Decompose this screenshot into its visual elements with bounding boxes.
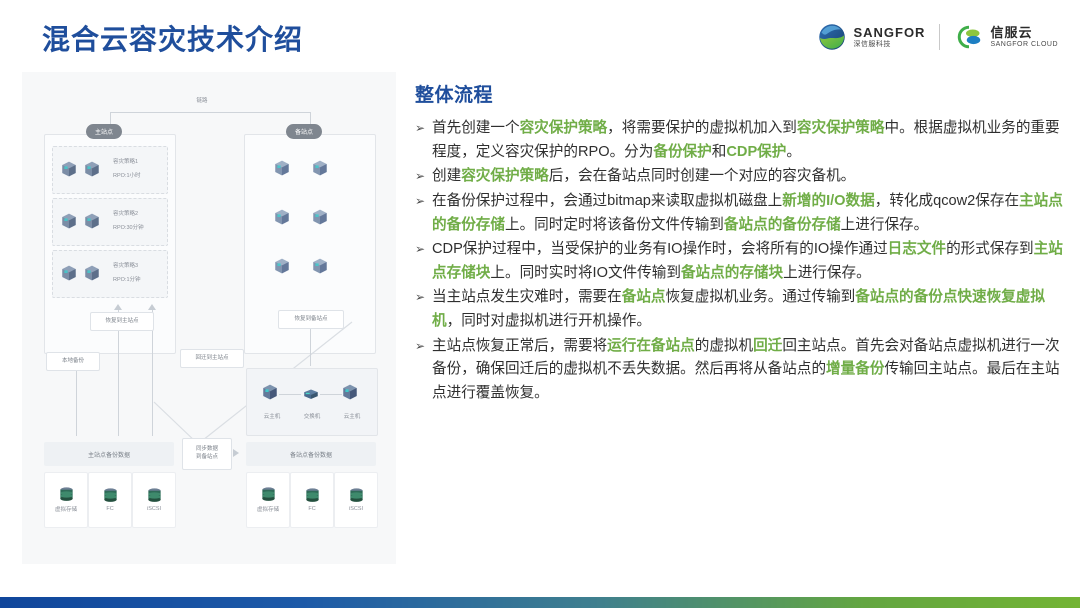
primary-storage-label-0: 虚拟存储 (55, 505, 77, 513)
bullet-marker-icon: ➢ (415, 190, 432, 213)
body-text-run: 主站点恢复正常后，需要将 (432, 338, 607, 354)
bullet-item: ➢CDP保护过程中，当受保护的业务有IO操作时，会将所有的IO操作通过日志文件的… (415, 238, 1063, 285)
slide-header: 混合云容灾技术介绍 SAN (0, 0, 1080, 68)
sangfor-cloud-logo-sub: SANGFOR CLOUD (990, 41, 1058, 48)
highlighted-term: 备站点 (622, 289, 666, 305)
database-icon (102, 488, 119, 503)
sangfor-cloud-logo-main: 信服云 (990, 26, 1058, 39)
bullet-marker-icon: ➢ (415, 286, 432, 309)
recovered-node-label-0: 云主机 (254, 414, 290, 421)
recovered-node-label-1: 交换机 (294, 414, 330, 421)
sync-data-tag: 同步数据 到备站点 (182, 438, 232, 470)
primary-site-pill: 主站点 (86, 124, 122, 139)
primary-storage-label-1: FC (106, 506, 113, 512)
bullet-marker-icon: ➢ (415, 165, 432, 188)
highlighted-term: 容灾保护策略 (520, 120, 608, 136)
bullet-text: 创建容灾保护策略后，会在备站点同时创建一个对应的容灾备机。 (432, 165, 1063, 189)
bullet-text: CDP保护过程中，当受保护的业务有IO操作时，会将所有的IO操作通过日志文件的形… (432, 238, 1063, 285)
primary-storage-iscsi: iSCSI (132, 472, 176, 528)
sangfor-cloud-logo: 信服云 SANGFOR CLOUD (954, 22, 1058, 52)
body-text-run: CDP保护过程中，当受保护的业务有IO操作时，会将所有的IO操作通过 (432, 241, 888, 257)
body-text-run: 。 (786, 144, 801, 160)
cloud-c-icon (954, 22, 984, 52)
bullet-item: ➢当主站点发生灾难时，需要在备站点恢复虚拟机业务。通过传输到备站点的备份点快速恢… (415, 286, 1063, 333)
highlighted-term: 容灾保护策略 (797, 120, 885, 136)
sangfor-logo-text: SANGFOR 深信服科技 (853, 26, 925, 48)
page-title: 混合云容灾技术介绍 (42, 18, 303, 58)
sangfor-globe-icon (817, 22, 847, 52)
primary-storage-virtual: 虚拟存储 (44, 472, 88, 528)
backup-storage-iscsi: iSCSI (334, 472, 378, 528)
sangfor-logo-sub: 深信服科技 (853, 41, 925, 48)
backup-storage-virtual: 虚拟存储 (246, 472, 290, 528)
body-text-run: 的形式保存到 (946, 241, 1034, 257)
body-text-run: ，同时对虚拟机进行开机操作。 (447, 313, 651, 329)
backup-storage-label-1: FC (308, 506, 315, 512)
highlighted-term: 新增的I/O数据 (782, 193, 874, 209)
highlighted-term: 备站点的备份存储 (724, 217, 841, 233)
restore-to-primary-tag: 恢复到主站点 (90, 312, 154, 331)
switch-icon (303, 388, 319, 399)
highlighted-term: 容灾保护策略 (461, 168, 549, 184)
highlighted-term: CDP保护 (726, 144, 786, 160)
restore-to-backup-tag: 恢复到备站点 (278, 310, 344, 329)
vm-icon (262, 384, 278, 400)
body-text-run: 在备份保护过程中，会通过bitmap来读取虚拟机磁盘上 (432, 193, 782, 209)
architecture-diagram: 链路 主站点 备站点 容灾策略1 RPO:1小时 (22, 72, 396, 564)
body-text-run: ，将需要保护的虚拟机加入到 (607, 120, 797, 136)
vm-switch-link-left (279, 394, 301, 395)
section-title: 整体流程 (415, 80, 1063, 107)
backup-site-pill: 备站点 (286, 124, 322, 139)
bullet-item: ➢创建容灾保护策略后，会在备站点同时创建一个对应的容灾备机。 (415, 165, 1063, 189)
vm-switch-link-right (320, 394, 342, 395)
database-icon (304, 488, 321, 503)
content-column: 整体流程 ➢首先创建一个容灾保护策略，将需要保护的虚拟机加入到容灾保护策略中。根… (415, 80, 1063, 407)
highlighted-term: 备站点的存储块 (681, 265, 783, 281)
primary-storage-label-2: iSCSI (147, 506, 161, 512)
bullet-text: 当主站点发生灾难时，需要在备站点恢复虚拟机业务。通过传输到备站点的备份点快速恢复… (432, 286, 1063, 333)
database-icon (58, 487, 75, 502)
backup-backup-data-band: 备站点备份数据 (246, 442, 376, 466)
bullet-item: ➢主站点恢复正常后，需要将运行在备站点的虚拟机回迁回主站点。首先会对备站点虚拟机… (415, 335, 1063, 406)
backup-storage-fc: FC (290, 472, 334, 528)
body-text-run: 上进行保存。 (783, 265, 871, 281)
local-backup-tag: 本地备份 (46, 352, 100, 371)
body-text-run: 当主站点发生灾难时，需要在 (432, 289, 622, 305)
highlighted-term: 运行在备站点 (607, 338, 695, 354)
body-text-run: 上。同时实时将IO文件传输到 (490, 265, 681, 281)
sangfor-cloud-logo-text: 信服云 SANGFOR CLOUD (990, 26, 1058, 48)
bullet-text: 首先创建一个容灾保护策略，将需要保护的虚拟机加入到容灾保护策略中。根据虚拟机业务… (432, 117, 1063, 164)
primary-storage-fc: FC (88, 472, 132, 528)
highlighted-term: 日志文件 (888, 241, 946, 257)
body-text-run: 首先创建一个 (432, 120, 520, 136)
highlighted-term: 备份保护 (653, 144, 711, 160)
body-text-run: 上。同时定时将该备份文件传输到 (505, 217, 724, 233)
bullet-text: 在备份保护过程中，会通过bitmap来读取虚拟机磁盘上新增的I/O数据，转化成q… (432, 190, 1063, 237)
logo-divider (939, 24, 940, 50)
body-text-run: 恢复虚拟机业务。通过传输到 (666, 289, 856, 305)
vm-icon (342, 384, 358, 400)
sync-data-arrow (233, 449, 239, 457)
slide-root: 混合云容灾技术介绍 SAN (0, 0, 1080, 608)
bullet-marker-icon: ➢ (415, 238, 432, 261)
backup-storage-label-0: 虚拟存储 (257, 505, 279, 513)
bullet-text: 主站点恢复正常后，需要将运行在备站点的虚拟机回迁回主站点。首先会对备站点虚拟机进… (432, 335, 1063, 406)
recovered-node-label-2: 云主机 (334, 414, 370, 421)
body-text-run: 后，会在备站点同时创建一个对应的容灾备机。 (549, 168, 855, 184)
highlighted-term: 回迁 (753, 338, 782, 354)
database-icon (348, 488, 365, 503)
recovered-cluster-box (246, 368, 378, 436)
bullet-marker-icon: ➢ (415, 335, 432, 358)
bullet-item: ➢首先创建一个容灾保护策略，将需要保护的虚拟机加入到容灾保护策略中。根据虚拟机业… (415, 117, 1063, 164)
body-text-run: 和 (712, 144, 727, 160)
body-text-run: 的虚拟机 (695, 338, 753, 354)
sangfor-logo: SANGFOR 深信服科技 (817, 22, 925, 52)
failback-to-primary-tag: 回迁到主站点 (180, 349, 244, 368)
logo-bar: SANGFOR 深信服科技 信服云 SANGFOR CLOUD (817, 20, 1058, 54)
database-icon (260, 487, 277, 502)
bullet-marker-icon: ➢ (415, 117, 432, 140)
sangfor-logo-main: SANGFOR (853, 26, 925, 39)
backup-storage-label-2: iSCSI (349, 506, 363, 512)
highlighted-term: 增量备份 (826, 361, 884, 377)
primary-backup-data-band: 主站点备份数据 (44, 442, 174, 466)
body-text-run: 创建 (432, 168, 461, 184)
database-icon (146, 488, 163, 503)
body-text-run: 上进行保存。 (841, 217, 929, 233)
bottom-gradient-bar (0, 597, 1080, 608)
body-text-run: ，转化成qcow2保存在 (875, 193, 1019, 209)
bullet-list: ➢首先创建一个容灾保护策略，将需要保护的虚拟机加入到容灾保护策略中。根据虚拟机业… (415, 117, 1063, 406)
bullet-item: ➢在备份保护过程中，会通过bitmap来读取虚拟机磁盘上新增的I/O数据，转化成… (415, 190, 1063, 237)
